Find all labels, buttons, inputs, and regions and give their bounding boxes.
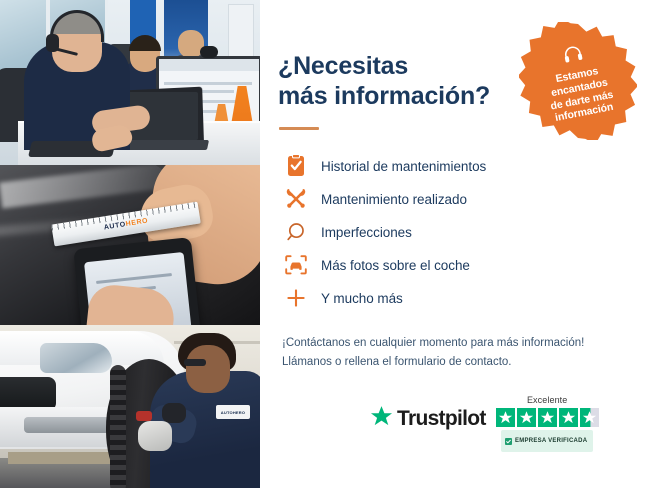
list-item: Historial de mantenimientos xyxy=(282,150,630,182)
feature-label: Imperfecciones xyxy=(321,225,412,240)
star-filled-icon xyxy=(559,408,578,427)
list-item: Más fotos sobre el coche xyxy=(282,249,630,281)
title-divider xyxy=(279,127,319,130)
uniform-logo-text: AUTOHERO xyxy=(221,410,245,415)
status-badge: EMPRESA VERIFICADA xyxy=(501,430,593,452)
list-item: Imperfecciones xyxy=(282,216,630,248)
vehicle-inspection-ruler-photo: AUTOHERO xyxy=(0,165,260,325)
star-filled-icon xyxy=(517,408,536,427)
contact-line-2: Llámanos o rellena el formulario de cont… xyxy=(282,356,512,368)
trustpilot-score-block: Excelente xyxy=(496,395,599,452)
headset-icon xyxy=(561,44,585,69)
trustpilot-star-icon xyxy=(370,405,393,432)
trustpilot-logo[interactable]: Trustpilot xyxy=(370,395,486,432)
feature-label: Historial de mantenimientos xyxy=(321,159,486,174)
plus-icon xyxy=(282,284,310,312)
page-title-line-2: más información? xyxy=(278,82,490,110)
clipboard-check-icon xyxy=(282,152,310,180)
star-half-icon xyxy=(580,408,599,427)
contact-information-banner: AUTOHERO xyxy=(0,0,650,488)
list-item: Y mucho más xyxy=(282,282,630,314)
list-item: Mantenimiento realizado xyxy=(282,183,630,215)
photo-column: AUTOHERO xyxy=(0,0,260,488)
content-panel: ¿Necesitas más información? Historial de… xyxy=(260,0,650,488)
trustpilot-wordmark: Trustpilot xyxy=(397,407,486,431)
feature-label: Más fotos sobre el coche xyxy=(321,258,470,273)
verified-label: EMPRESA VERIFICADA xyxy=(515,438,587,444)
car-scan-frame-icon xyxy=(282,251,310,279)
page-title-line-1: ¿Necesitas xyxy=(278,52,408,80)
crossed-tools-icon xyxy=(282,185,310,213)
mechanic-wheel-inspection-photo: AUTOHERO xyxy=(0,325,260,488)
feature-label: Y mucho más xyxy=(321,291,403,306)
contact-paragraph: ¡Contáctanos en cualquier momento para m… xyxy=(282,334,630,371)
magnifier-icon xyxy=(282,218,310,246)
feature-list: Historial de mantenimientos M xyxy=(282,150,630,314)
trustpilot-star-rating xyxy=(496,408,599,427)
contact-line-1: ¡Contáctanos en cualquier momento para m… xyxy=(282,337,584,349)
check-circle-icon xyxy=(505,432,512,450)
ruler-brand-suffix: HERO xyxy=(125,217,148,227)
star-filled-icon xyxy=(496,408,515,427)
ruler-brand-prefix: AUTO xyxy=(103,221,126,231)
call-center-agents-photo xyxy=(0,0,260,165)
trustpilot-rating-label: Excelente xyxy=(527,395,567,405)
star-filled-icon xyxy=(538,408,557,427)
trustpilot-rating[interactable]: Trustpilot Excelente xyxy=(370,395,599,452)
uniform-logo-patch: AUTOHERO xyxy=(216,405,250,419)
status-badge: Estamos encantados de darte más informac… xyxy=(519,22,637,140)
feature-label: Mantenimiento realizado xyxy=(321,192,467,207)
